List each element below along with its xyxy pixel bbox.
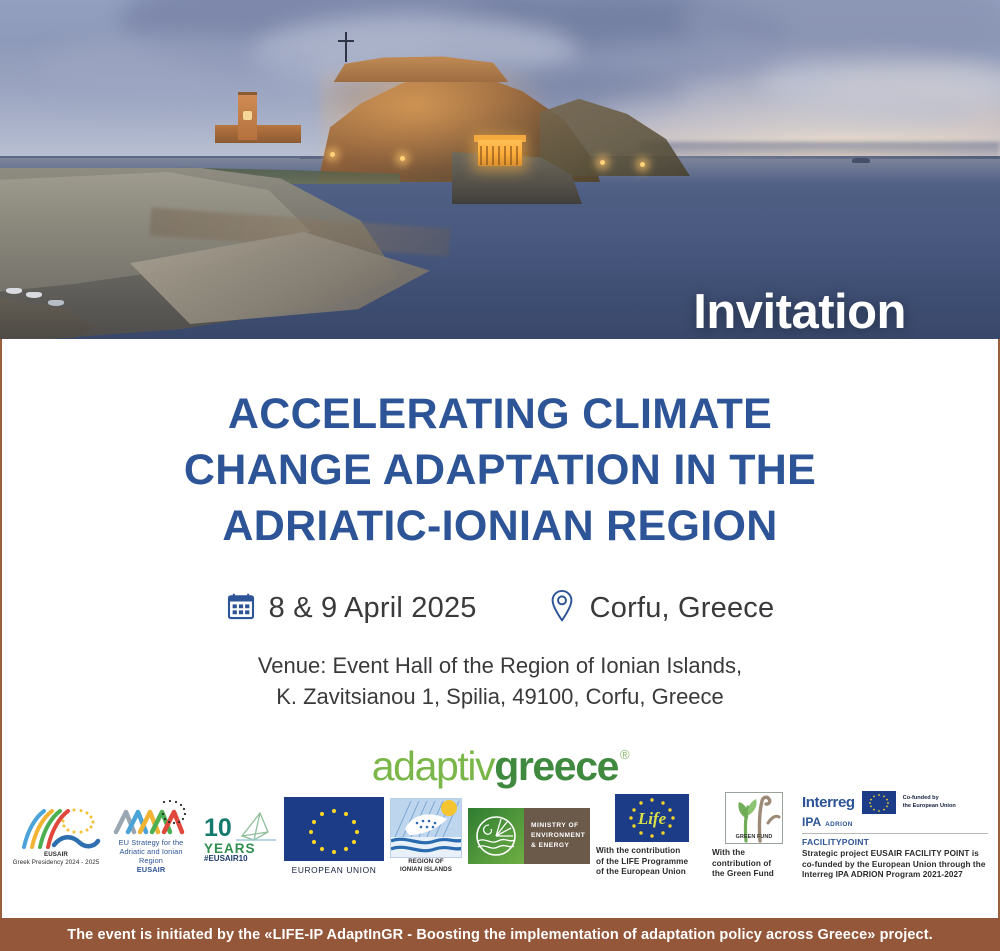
venue-line-1: Venue: Event Hall of the Region of Ionia… (140, 650, 860, 681)
calendar-icon (226, 591, 256, 626)
mast-crossbar (338, 40, 354, 42)
life-wordmark: Life (637, 809, 667, 828)
logo-european-union: EUROPEAN UNION (284, 797, 384, 875)
logo-interreg-ipa-adrion: Interreg (802, 791, 990, 881)
title-line-3: ADRIATIC-IONIAN REGION (60, 499, 940, 555)
church-building (215, 125, 301, 143)
green-fund-caption-line-1: With the (712, 848, 796, 859)
ionian-caption-line-2: IONIAN ISLANDS (400, 866, 452, 874)
cofunded-line-1: Co-funded by (903, 795, 956, 802)
logo-green-fund: GREEN FUND With the contribution of the … (712, 792, 796, 880)
ten-years-number: 10 (204, 814, 232, 842)
ministry-name: MINISTRY OF ENVIRONMENT & ENERGY (524, 808, 590, 864)
logo-eusair-greek-presidency: EUSAIR Greek Presidency 2024 - 2025 (10, 805, 102, 867)
logo-eustrategy-line-2: Adriatic and Ionian Region (108, 847, 194, 866)
logo-eusair-10-years: 10 YEARS #EUSAIR10 (202, 810, 278, 862)
ten-years-hashtag: #EUSAIR10 (204, 854, 248, 862)
interreg-header: Interreg (802, 791, 956, 814)
life-caption-line-2: of the LIFE Programme (596, 857, 708, 868)
life-flag-icon: Life (615, 794, 689, 842)
title-line-2: CHANGE ADAPTATION IN THE (60, 443, 940, 499)
ipa-adrion-row: IPA ADRION (802, 815, 853, 829)
logo-eusair-title: EUSAIR (44, 851, 68, 859)
ministry-line-1: MINISTRY OF (531, 821, 585, 831)
interreg-wordmark: Interreg (802, 794, 855, 811)
moored-boat (48, 300, 64, 306)
partner-logos-strip: EUSAIR Greek Presidency 2024 - 2025 (2, 790, 998, 882)
bell-tower (238, 92, 257, 140)
eu-flag-icon (284, 797, 384, 861)
ionian-islands-icon (390, 798, 462, 858)
ipa-label: IPA (802, 815, 821, 829)
eusair-chevrons-icon (108, 798, 194, 838)
ministry-icon: MINISTRY OF ENVIRONMENT & ENERGY (468, 808, 590, 864)
logo-eustrategy-line-3: EUSAIR (137, 865, 166, 874)
logo-eustrategy-line-1: EU Strategy for the (119, 838, 184, 847)
eusair-sails-icon (10, 805, 102, 851)
registered-mark: ® (620, 748, 628, 761)
venue-address: Venue: Event Hall of the Region of Ionia… (140, 650, 860, 712)
distant-boat-icon (852, 158, 870, 163)
event-location-text: Corfu, Greece (590, 592, 775, 625)
logo-ministry-of-environment-and-energy: MINISTRY OF ENVIRONMENT & ENERGY (468, 808, 590, 864)
life-caption-line-3: of the European Union (596, 867, 708, 878)
content-panel: ACCELERATING CLIMATE CHANGE ADAPTATION I… (0, 339, 1000, 918)
green-fund-caption-line-3: the Green Fund (712, 869, 796, 880)
adrion-label: ADRION (825, 821, 853, 828)
map-pin-icon (547, 589, 577, 628)
brand-adaptiv: adaptiv (372, 746, 494, 787)
page-title: ACCELERATING CLIMATE CHANGE ADAPTATION I… (60, 387, 940, 555)
logo-region-of-ionian-islands: REGION OF IONIAN ISLANDS (390, 798, 462, 874)
ten-years-icon: 10 YEARS #EUSAIR10 (202, 810, 278, 862)
logo-life-programme: Life With the contribution of the LIFE P… (596, 794, 708, 878)
event-date: 8 & 9 April 2025 (226, 591, 477, 626)
eu-flag-caption: EUROPEAN UNION (292, 865, 377, 875)
ministry-line-3: & ENERGY (531, 841, 585, 851)
temple-columns (480, 146, 520, 165)
interreg-desc-line-2: co-funded by the European Union through … (802, 860, 990, 871)
street-lamp (400, 156, 405, 161)
hero-photo: Invitation (0, 0, 1000, 339)
facility-point-label: FACILITYPOINT (802, 837, 869, 847)
event-meta: 8 & 9 April 2025 Corfu, Greece (226, 589, 775, 628)
event-date-text: 8 & 9 April 2025 (269, 592, 477, 625)
life-caption-line-1: With the contribution (596, 846, 708, 857)
green-fund-icon: GREEN FUND (725, 792, 783, 844)
street-lamp (640, 162, 645, 167)
ministry-line-2: ENVIRONMENT (531, 831, 585, 841)
green-fund-caption-line-2: contribution of (712, 859, 796, 870)
eu-mini-flag-icon (862, 791, 896, 814)
street-lamp (330, 152, 335, 157)
interreg-divider (802, 833, 988, 834)
cloud (40, 34, 320, 106)
logo-eusair-subtitle: Greek Presidency 2024 - 2025 (13, 859, 100, 867)
interreg-desc-line-3: Interreg IPA ADRION Program 2021-2027 (802, 870, 990, 881)
cofunded-line-2: the European Union (903, 803, 956, 810)
cofunded-text: Co-funded by the European Union (903, 795, 956, 810)
moored-boat (6, 288, 22, 294)
invitation-poster: Invitation ACCELERATING CLIMATE CHANGE A… (0, 0, 1000, 951)
adaptivgreece-logo: adaptiv greece ® (372, 746, 628, 787)
interreg-desc-line-1: Strategic project EUSAIR FACILITY POINT … (802, 849, 990, 860)
moored-boat (26, 292, 42, 298)
cloud (600, 86, 980, 140)
ministry-emblem (468, 808, 524, 864)
flag-mast (345, 32, 347, 62)
green-fund-label: GREEN FUND (726, 834, 782, 841)
ionian-caption-line-1: REGION OF (408, 858, 444, 866)
street-lamp (600, 160, 605, 165)
title-line-1: ACCELERATING CLIMATE (60, 387, 940, 443)
event-location: Corfu, Greece (547, 589, 775, 628)
venue-line-2: K. Zavitsianou 1, Spilia, 49100, Corfu, … (140, 681, 860, 712)
footer-banner: The event is initiated by the «LIFE-IP A… (0, 918, 1000, 951)
brand-greece: greece (494, 746, 618, 787)
footer-text: The event is initiated by the «LIFE-IP A… (67, 927, 933, 943)
logo-eu-strategy-adriatic-ionian: EU Strategy for the Adriatic and Ionian … (108, 798, 194, 875)
invitation-badge: Invitation (693, 288, 906, 337)
